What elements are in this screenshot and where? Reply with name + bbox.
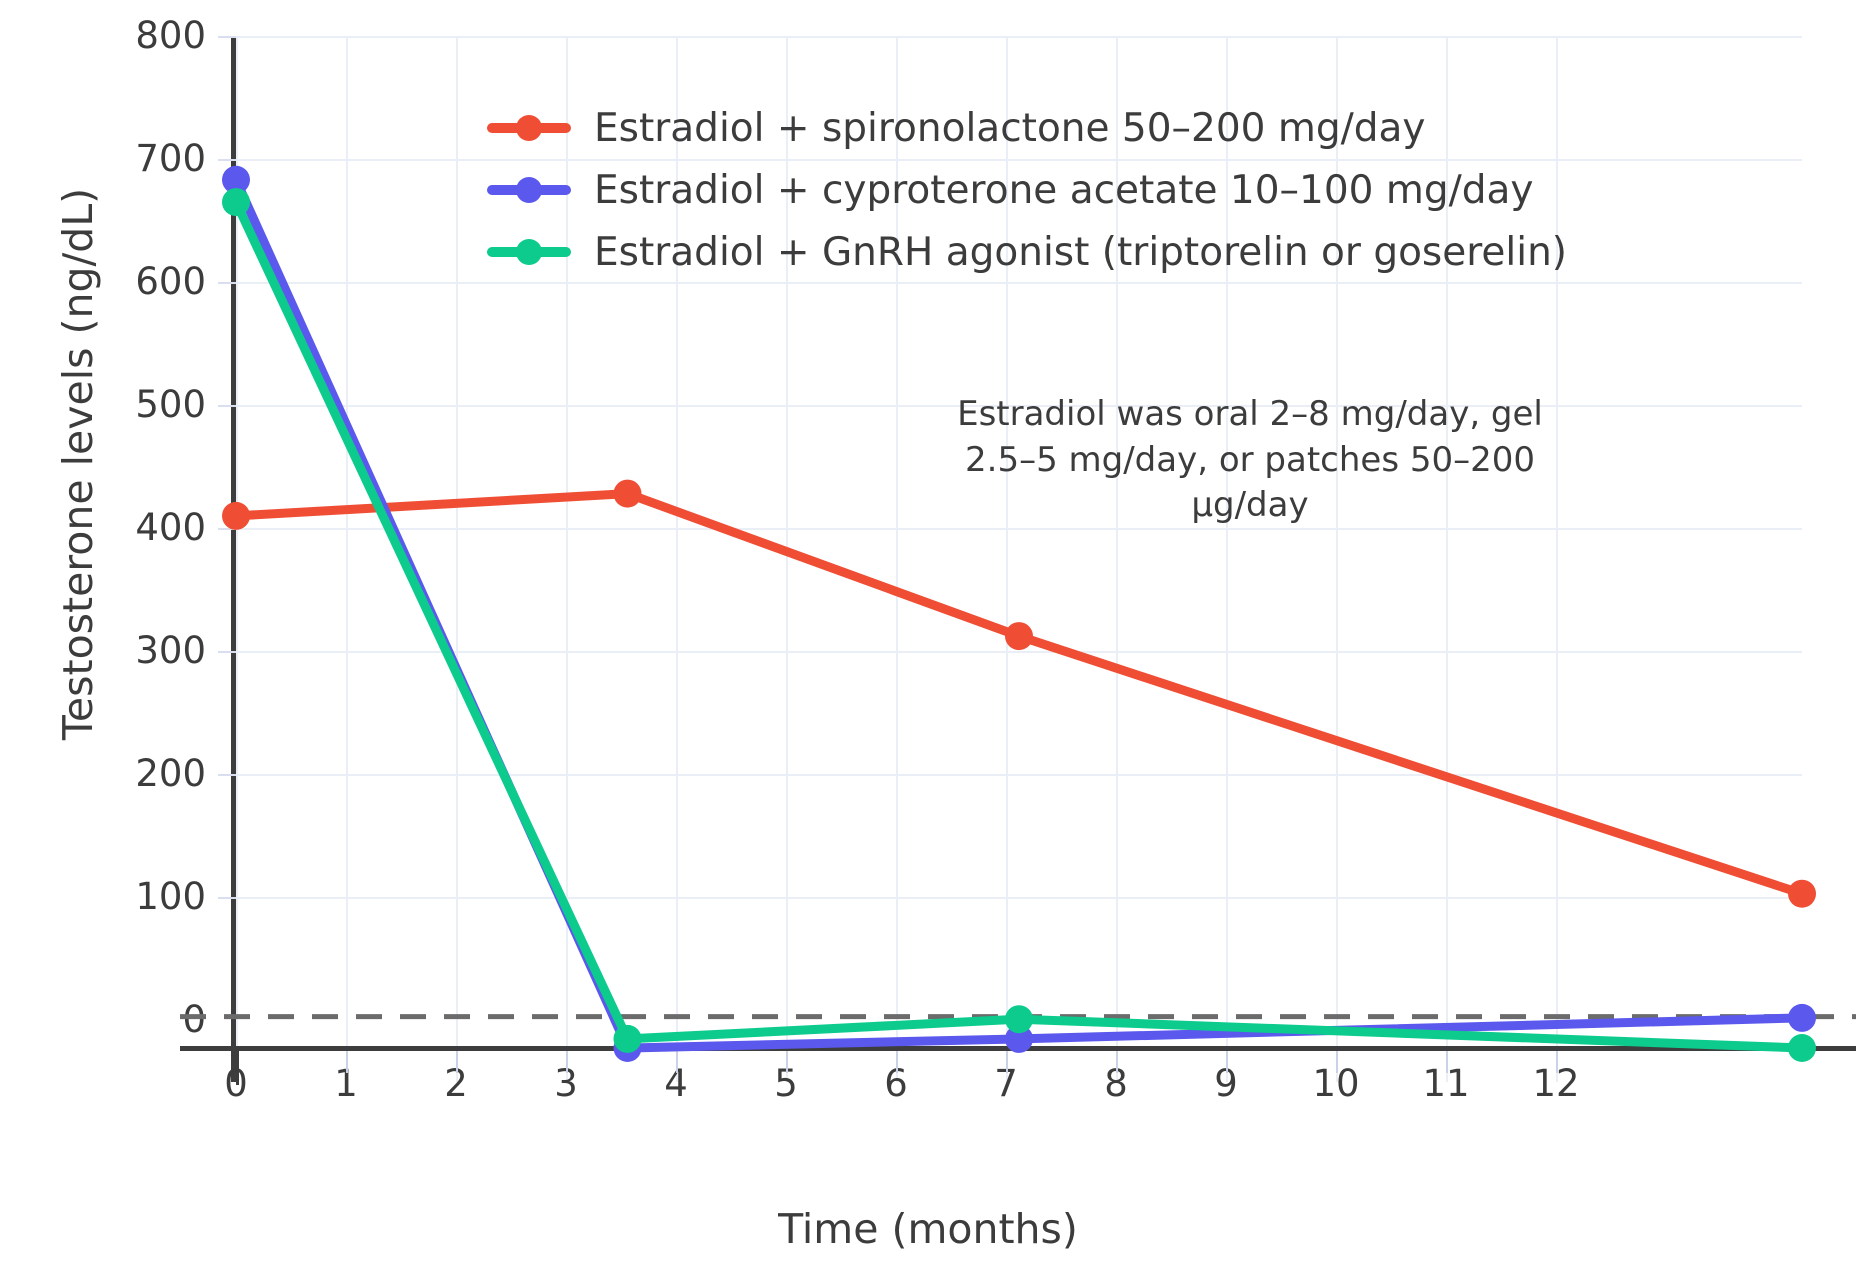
data-point-spironolactone-m0[interactable] bbox=[222, 502, 250, 530]
series-lines-group bbox=[236, 180, 1802, 1048]
annotation-line-1: Estradiol was oral 2–8 mg/day, gel bbox=[905, 392, 1595, 438]
data-point-spironolactone-m3[interactable] bbox=[614, 480, 642, 508]
legend-swatch-green-line-icon bbox=[487, 247, 571, 257]
legend-item-cyproterone[interactable]: Estradiol + cyproterone acetate 10–100 m… bbox=[487, 166, 1567, 214]
series-markers-group bbox=[222, 166, 1816, 1062]
legend-item-spironolactone[interactable]: Estradiol + spironolactone 50–200 mg/day bbox=[487, 104, 1567, 152]
chart-figure: Testosterone levels (ng/dL) Time (months… bbox=[0, 0, 1856, 1284]
series-line-cyproterone bbox=[236, 180, 1802, 1048]
annotation-line-2: 2.5–5 mg/day, or patches 50–200 µg/day bbox=[905, 438, 1595, 529]
data-point-gnrh-agonist-m3[interactable] bbox=[614, 1025, 642, 1053]
legend-item-gnrh-agonist[interactable]: Estradiol + GnRH agonist (triptorelin or… bbox=[487, 228, 1567, 276]
legend-swatch-blue-line-icon bbox=[487, 185, 571, 195]
data-point-gnrh-agonist-m12[interactable] bbox=[1788, 1034, 1816, 1062]
data-point-spironolactone-m6[interactable] bbox=[1005, 622, 1033, 650]
data-point-spironolactone-m12[interactable] bbox=[1788, 880, 1816, 908]
legend: Estradiol + spironolactone 50–200 mg/day… bbox=[487, 104, 1567, 276]
data-point-gnrh-agonist-m6[interactable] bbox=[1005, 1005, 1033, 1033]
legend-label-spironolactone: Estradiol + spironolactone 50–200 mg/day bbox=[594, 109, 1426, 148]
legend-swatch-red-line-icon bbox=[487, 123, 571, 133]
data-point-cyproterone-m12[interactable] bbox=[1788, 1004, 1816, 1032]
legend-label-gnrh-agonist: Estradiol + GnRH agonist (triptorelin or… bbox=[594, 233, 1567, 272]
legend-label-cyproterone: Estradiol + cyproterone acetate 10–100 m… bbox=[594, 171, 1534, 210]
annotation-estradiol-dosing: Estradiol was oral 2–8 mg/day, gel 2.5–5… bbox=[905, 392, 1595, 529]
data-point-gnrh-agonist-m0[interactable] bbox=[222, 188, 250, 216]
